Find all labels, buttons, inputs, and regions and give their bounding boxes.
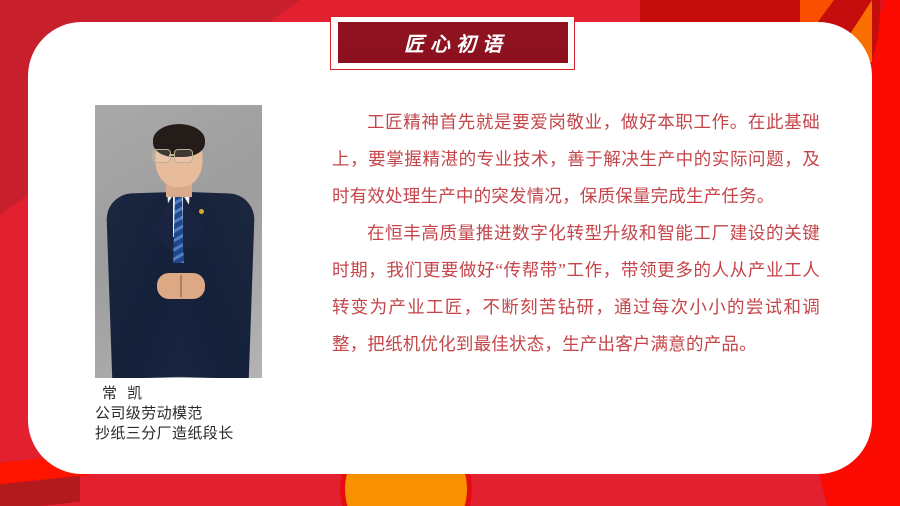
portrait-glasses-left-lens xyxy=(152,149,171,163)
portrait-hands-divider xyxy=(180,275,182,297)
title-banner: 匠心初语 xyxy=(338,22,568,63)
portrait-glasses-bridge xyxy=(169,154,175,156)
portrait-glasses-right-lens xyxy=(174,149,193,163)
portrait-lapel-pin xyxy=(199,209,204,214)
slide-canvas: 匠心初语 常 凯 公司级劳动模范 抄纸三分厂造纸段长 工匠精神首先就是要爱岗敬业… xyxy=(0,0,900,506)
body-paragraph-2: 在恒丰高质量推进数字化转型升级和智能工厂建设的关键时期，我们更要做好“传帮带”工… xyxy=(332,215,820,363)
caption-honor: 公司级劳动模范 xyxy=(95,404,295,424)
body-paragraph-1: 工匠精神首先就是要爱岗敬业，做好本职工作。在此基础上，要掌握精湛的专业技术，善于… xyxy=(332,104,820,215)
body-text: 工匠精神首先就是要爱岗敬业，做好本职工作。在此基础上，要掌握精湛的专业技术，善于… xyxy=(332,104,820,363)
portrait-photo xyxy=(95,105,262,378)
portrait-caption: 常 凯 公司级劳动模范 抄纸三分厂造纸段长 xyxy=(95,384,295,444)
caption-position: 抄纸三分厂造纸段长 xyxy=(95,424,295,444)
caption-name: 常 凯 xyxy=(95,384,295,404)
page-title: 匠心初语 xyxy=(398,28,508,57)
